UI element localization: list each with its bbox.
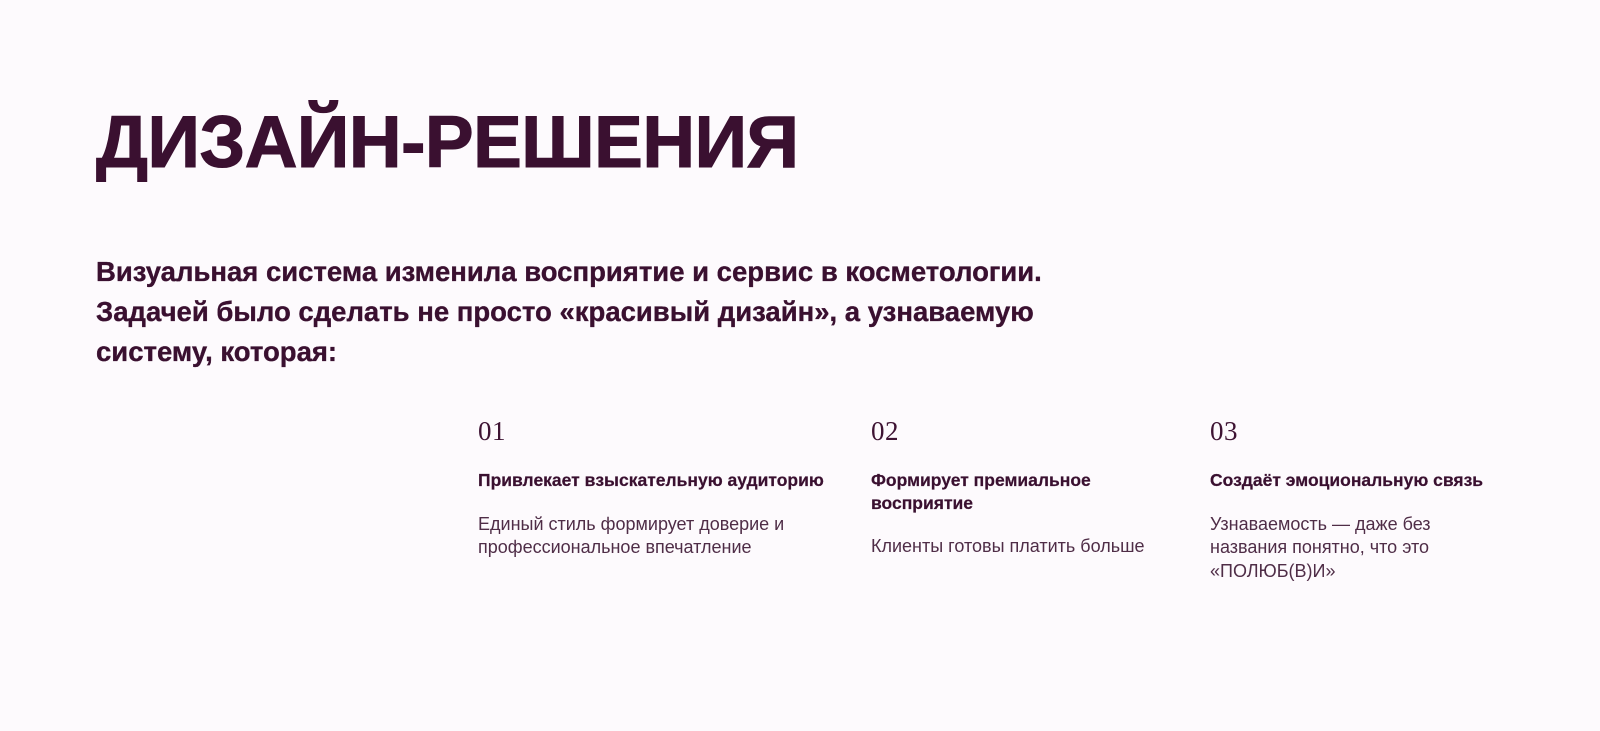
feature-body-02: Клиенты готовы платить больше	[871, 535, 1165, 559]
lead-paragraph: Визуальная система изменила восприятие и…	[96, 252, 1436, 372]
feature-heading-02: Формирует премиальное восприятие	[871, 469, 1165, 514]
page-title: ДИЗАЙН-РЕШЕНИЯ	[96, 106, 799, 179]
feature-number-02: 02	[871, 418, 1165, 445]
feature-heading-01: Привлекает взыскательную аудиторию	[478, 469, 826, 492]
feature-heading-03: Создаёт эмоциональную связь	[1210, 469, 1510, 492]
feature-column-01: 01 Привлекает взыскательную аудиторию Ед…	[478, 418, 871, 560]
lead-line-2: Задачей было сделать не просто «красивый…	[96, 292, 1436, 332]
feature-body-01: Единый стиль формирует доверие и професс…	[478, 513, 826, 560]
feature-number-01: 01	[478, 418, 826, 445]
feature-column-02: 02 Формирует премиальное восприятие Клие…	[871, 418, 1210, 559]
slide-canvas: ДИЗАЙН-РЕШЕНИЯ Визуальная система измени…	[0, 0, 1600, 731]
feature-body-03: Узнаваемость — даже без названия понятно…	[1210, 513, 1510, 584]
feature-column-03: 03 Создаёт эмоциональную связь Узнаваемо…	[1210, 418, 1510, 583]
lead-line-1: Визуальная система изменила восприятие и…	[96, 252, 1436, 292]
lead-line-3: систему, которая:	[96, 332, 1436, 372]
feature-number-03: 03	[1210, 418, 1510, 445]
feature-columns: 01 Привлекает взыскательную аудиторию Ед…	[478, 418, 1538, 583]
